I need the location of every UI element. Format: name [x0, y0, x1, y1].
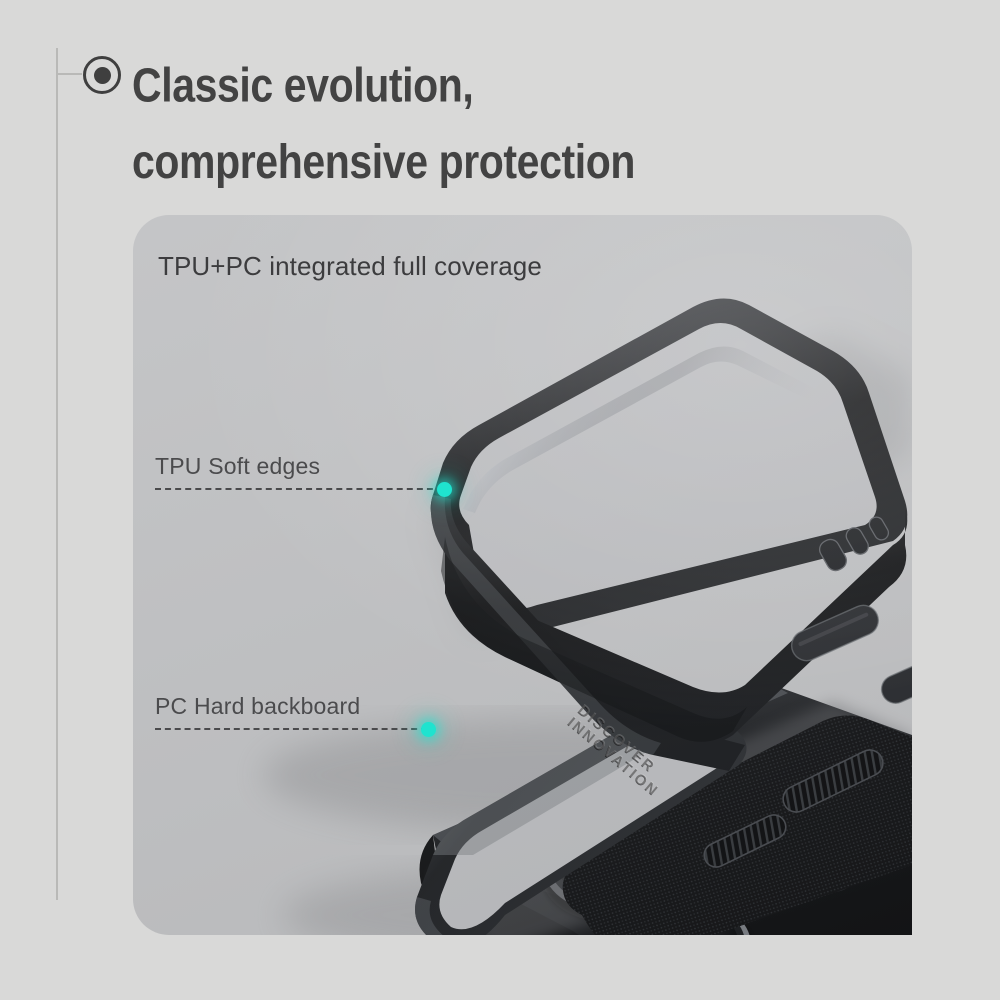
headline-line-1: Classic evolution, — [132, 58, 473, 112]
product-render-svg — [133, 215, 912, 935]
radio-dot-icon — [83, 56, 121, 94]
product-illustration: DISCOVER INNOVATION — [133, 215, 912, 935]
card-title: TPU+PC integrated full coverage — [158, 251, 542, 282]
feature-card: DISCOVER INNOVATION TPU+PC integrated fu… — [133, 215, 912, 935]
callout-marker-dot — [421, 722, 436, 737]
tpu-button-cover — [877, 646, 912, 707]
callout-leader-line — [155, 488, 443, 490]
callout-label: PC Hard backboard — [155, 693, 360, 720]
callout-marker-dot — [437, 482, 452, 497]
radio-dot-inner — [94, 67, 111, 84]
left-rail-vertical-line — [56, 48, 58, 900]
headline-line-2: comprehensive protection — [132, 124, 922, 201]
tpu-soft-frame — [431, 298, 912, 771]
callout-leader-line — [155, 728, 427, 730]
left-rail-tick — [56, 73, 82, 75]
page-title: Classic evolution, comprehensive protect… — [132, 47, 922, 200]
callout-tpu-soft-edges: TPU Soft edges — [155, 435, 455, 490]
callout-pc-hard-backboard: PC Hard backboard — [155, 675, 445, 730]
callout-label: TPU Soft edges — [155, 453, 320, 480]
